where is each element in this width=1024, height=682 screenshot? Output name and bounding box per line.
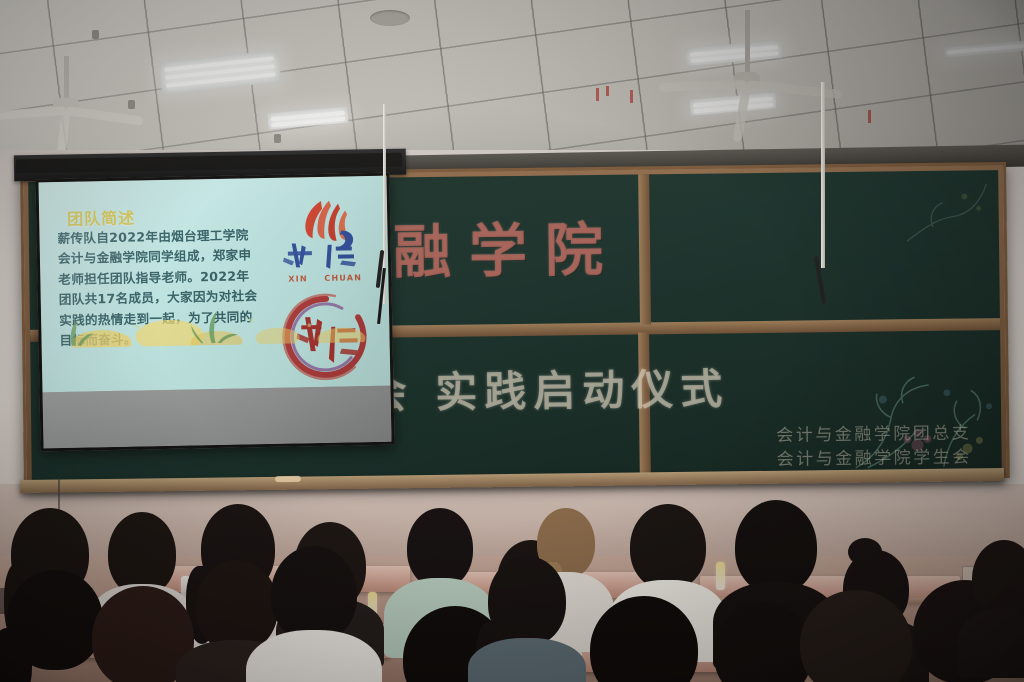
presentation-slide: 团队简述 薪传队自2022年由烟台理工学院 会计与金融学院同学组成，郑家申 老师… [38, 176, 390, 393]
star-chalk-art [902, 174, 993, 245]
svg-text:CHUAN: CHUAN [324, 273, 362, 283]
audience-person [472, 556, 582, 682]
svg-text:XIN: XIN [288, 274, 308, 283]
blackboard-signature-line: 会计与金融学院学生会 [776, 442, 971, 469]
projection-screen: 团队简述 薪传队自2022年由烟台理工学院 会计与金融学院同学组成，郑家申 老师… [35, 173, 394, 452]
slide-foliage-decoration [41, 302, 390, 349]
audience-person [576, 596, 712, 682]
blackboard-signature-line: 会计与金融学院团总支 [776, 418, 971, 445]
classroom-photo-scene: 会计与金融学院 2023暑期社会 实践启动仪式 会计与金融学院团总支 会计与金融… [0, 0, 1024, 682]
audience-person [964, 540, 1024, 660]
chalk-piece [275, 476, 301, 482]
slide-blank-area [43, 386, 392, 449]
audience-person [252, 546, 376, 682]
slide-heading: 团队简述 [67, 205, 135, 230]
xinchuan-flame-logo: XIN CHUAN [281, 196, 367, 286]
hanging-rod [821, 82, 825, 268]
blackboard-divider-vertical [638, 174, 651, 324]
